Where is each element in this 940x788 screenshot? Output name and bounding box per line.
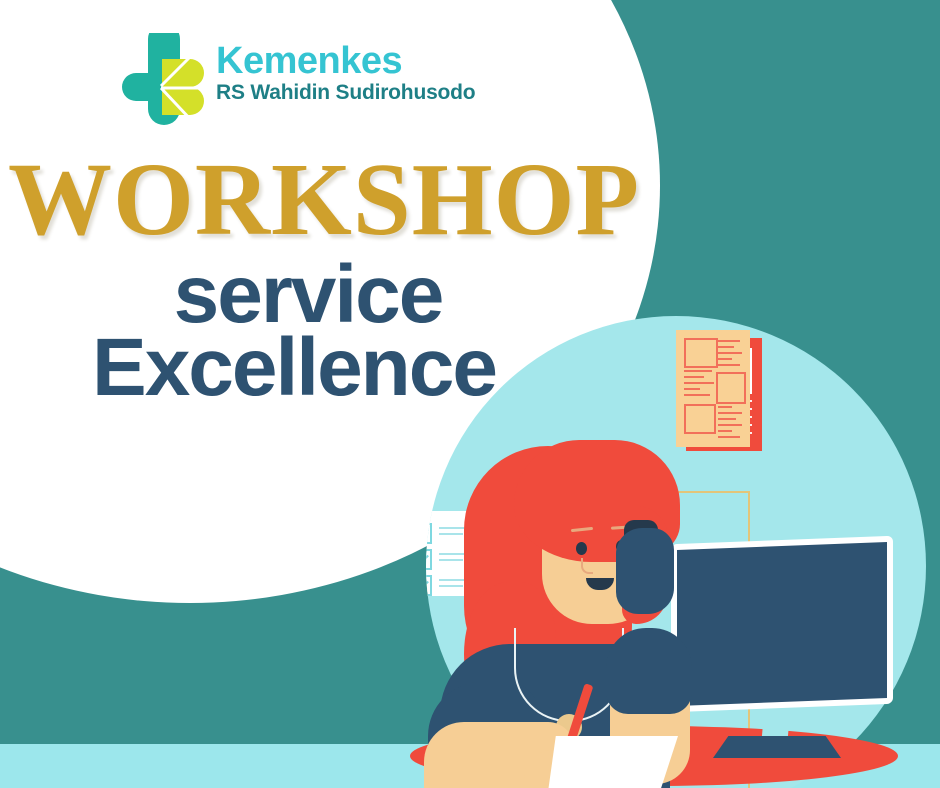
nose [581,558,593,574]
brand-logo: Kemenkes RS Wahidin Sudirohusodo [116,33,496,133]
tan-doc-line [684,382,714,384]
tan-doc-line [684,388,700,390]
tan-doc-box [716,372,746,404]
tan-doc-line [718,424,742,426]
tan-doc-line [718,352,742,354]
tan-doc-line [684,370,712,372]
kemenkes-flower-logo-icon [116,33,208,129]
tan-doc-box [684,338,718,368]
tan-doc-line [684,394,710,396]
tan-doc-box [684,404,716,434]
tan-doc-line [684,376,704,378]
headline-excellence: Excellence [0,325,588,411]
sleeve-right [606,628,692,714]
woman-illustration [418,432,728,788]
tan-document [676,330,750,447]
tan-doc-line [718,358,732,360]
brand-logo-text: Kemenkes RS Wahidin Sudirohusodo [216,41,475,105]
brand-title: Kemenkes [216,41,475,81]
tan-doc-line [718,418,736,420]
brand-subtitle: RS Wahidin Sudirohusodo [216,81,475,105]
tan-doc-line [718,340,740,342]
tan-doc-line [718,346,734,348]
eye-left [576,542,587,555]
writing-paper [548,736,678,788]
tan-doc-line [718,412,742,414]
monitor-stand-base [713,736,841,758]
tan-doc-line [718,364,740,366]
headline-workshop: WORKSHOP [8,148,628,252]
hand-holding-phone [616,528,674,614]
poster-canvas: Kemenkes RS Wahidin Sudirohusodo WORKSHO… [0,0,940,788]
tan-doc-line [718,406,732,408]
